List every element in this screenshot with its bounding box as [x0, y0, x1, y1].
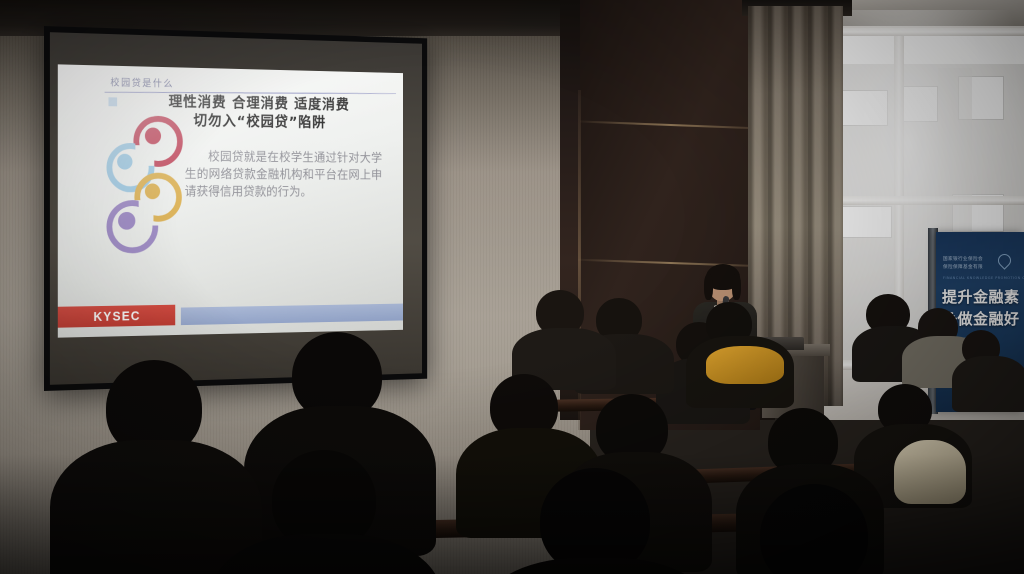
- banner-org-line-2: 保险保障基金有限: [943, 264, 983, 270]
- wood-panel-edge: [578, 90, 581, 430]
- ring-gold-center-dot: [145, 183, 160, 199]
- presentation-slide: 校园贷是什么 理性消费 合理消费 适度消费 切勿入“校园贷”陷阱 校园贷就是在校…: [58, 64, 403, 337]
- banner-headline-2: 争做金融好: [942, 308, 1020, 329]
- banner-bullet-4: 共筑金融安全防线: [950, 379, 986, 385]
- banner-bullet-marker: [943, 366, 948, 371]
- banner-headline-1: 提升金融素: [942, 286, 1020, 307]
- slide-footer-bar: [181, 304, 403, 326]
- slide-headline: 理性消费 合理消费 适度消费 切勿入“校园贷”陷阱: [120, 93, 394, 133]
- banner-bullet-1: 提高消费者金融素养: [950, 337, 990, 343]
- ring-lightblue-center-dot: [117, 154, 132, 170]
- podium: [762, 352, 824, 418]
- slide-decorative-rings: [105, 113, 183, 252]
- rollup-banner: 国家银行业保险会 保险保障基金有限 FINANCIAL KNOWLEDGE PR…: [936, 232, 1024, 412]
- slide-bullet-square-icon: [108, 97, 117, 106]
- banner-bullet-3: 远离非法网上金融活动: [950, 365, 995, 371]
- slide-headline-line-2: 切勿入“校园贷”陷阱: [120, 111, 394, 133]
- ring-purple-center-dot: [118, 212, 135, 230]
- window-mullion-horizontal: [826, 196, 1024, 205]
- banner-bullet-marker: [943, 338, 948, 343]
- banner-bullet-marker: [943, 352, 948, 357]
- projection-screen: 校园贷是什么 理性消费 合理消费 适度消费 切勿入“校园贷”陷阱 校园贷就是在校…: [44, 26, 427, 391]
- ring-red-center-dot: [145, 127, 161, 144]
- ring-gold-icon: [134, 173, 181, 222]
- foreground-shadow: [0, 454, 1024, 574]
- lecture-hall-photo: 国家银行业保险会 保险保障基金有限 FINANCIAL KNOWLEDGE PR…: [0, 0, 1024, 574]
- window-frame-top: [826, 28, 1024, 36]
- presenter-hand: [720, 318, 731, 330]
- slide-logo-text: KYSEC: [93, 309, 140, 324]
- banner-emblem-icon: [995, 251, 1013, 269]
- presenter: [684, 262, 768, 422]
- slide-logo-badge: KYSEC: [58, 305, 175, 328]
- banner-bullet-marker: [943, 380, 948, 385]
- banner-subtitle-en: FINANCIAL KNOWLEDGE PROMOTION CAMPAIGN: [943, 276, 1024, 280]
- banner-bullet-2: 树立理性投资观念: [950, 351, 986, 357]
- banner-org-line-1: 国家银行业保险会: [943, 256, 983, 262]
- presenter-hair-right: [732, 274, 741, 300]
- slide-body-text: 校园贷就是在校学生通过针对大学生的网络贷款金融机构和平台在网上申请获得信用贷款的…: [185, 148, 382, 201]
- slide-section-title: 校园贷是什么: [110, 75, 174, 90]
- presenter-hair-left: [704, 274, 713, 300]
